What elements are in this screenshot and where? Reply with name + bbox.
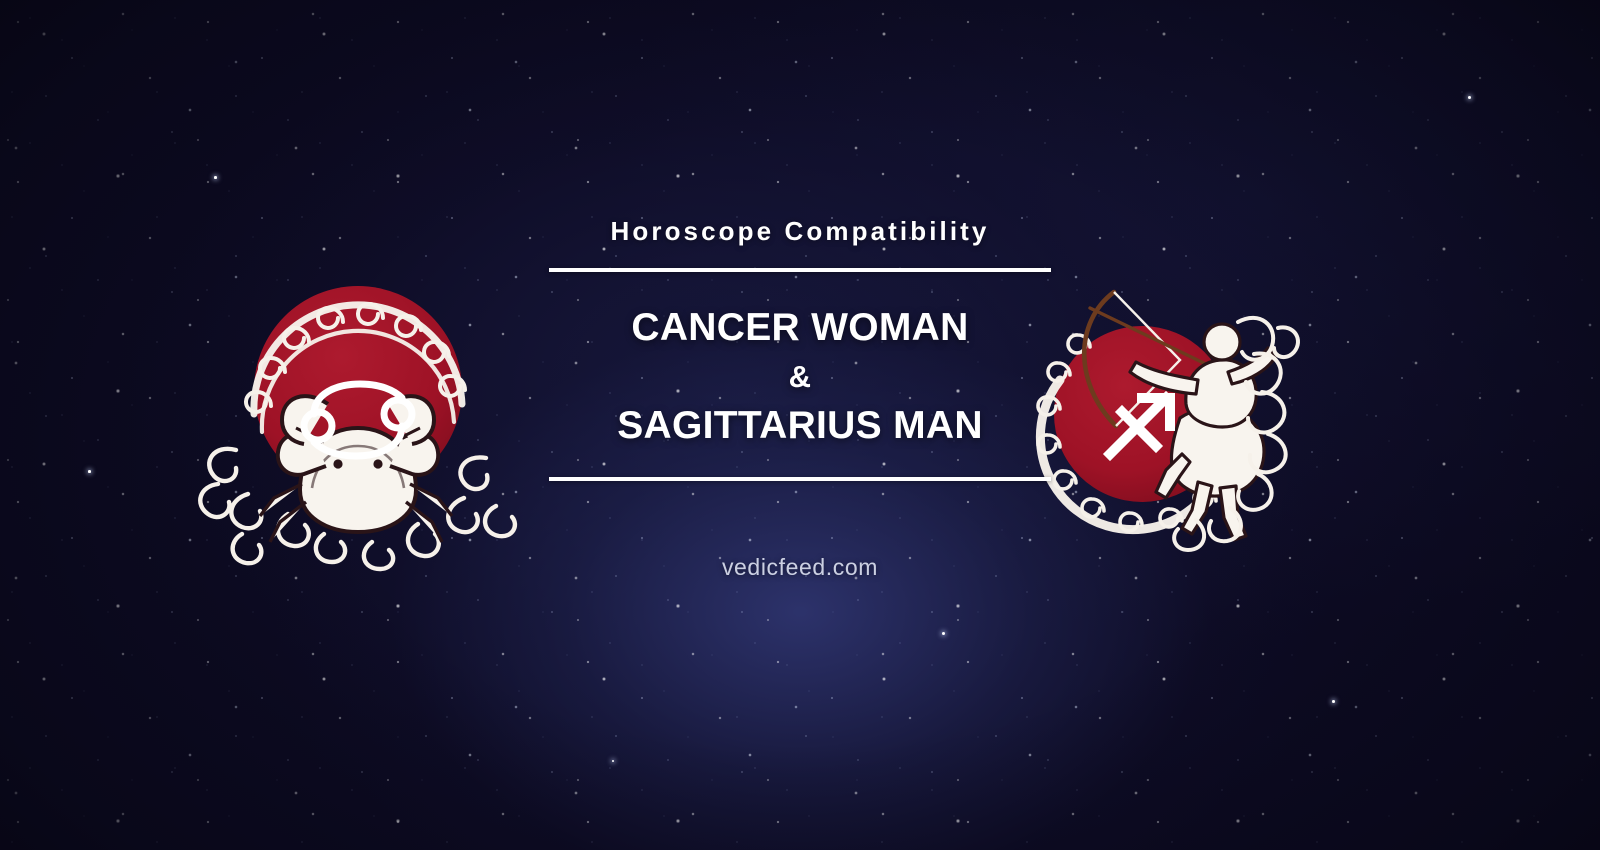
kicker-heading: Horoscope Compatibility	[611, 216, 990, 247]
site-watermark: vedicfeed.com	[722, 554, 878, 581]
center-content: Horoscope Compatibility CANCER WOMAN & S…	[490, 0, 1110, 850]
divider-bottom	[549, 477, 1051, 481]
headline-line-one: CANCER WOMAN	[631, 306, 968, 349]
star-accent	[1332, 700, 1335, 703]
headline-ampersand: &	[617, 353, 983, 401]
star-accent	[88, 470, 91, 473]
page-title: CANCER WOMAN & SAGITTARIUS MAN	[617, 303, 983, 451]
headline-line-two: SAGITTARIUS MAN	[617, 404, 983, 447]
compatibility-banner: Horoscope Compatibility CANCER WOMAN & S…	[0, 0, 1600, 850]
cancer-emblem	[196, 262, 516, 560]
star-accent	[214, 176, 217, 179]
divider-top	[549, 268, 1051, 272]
